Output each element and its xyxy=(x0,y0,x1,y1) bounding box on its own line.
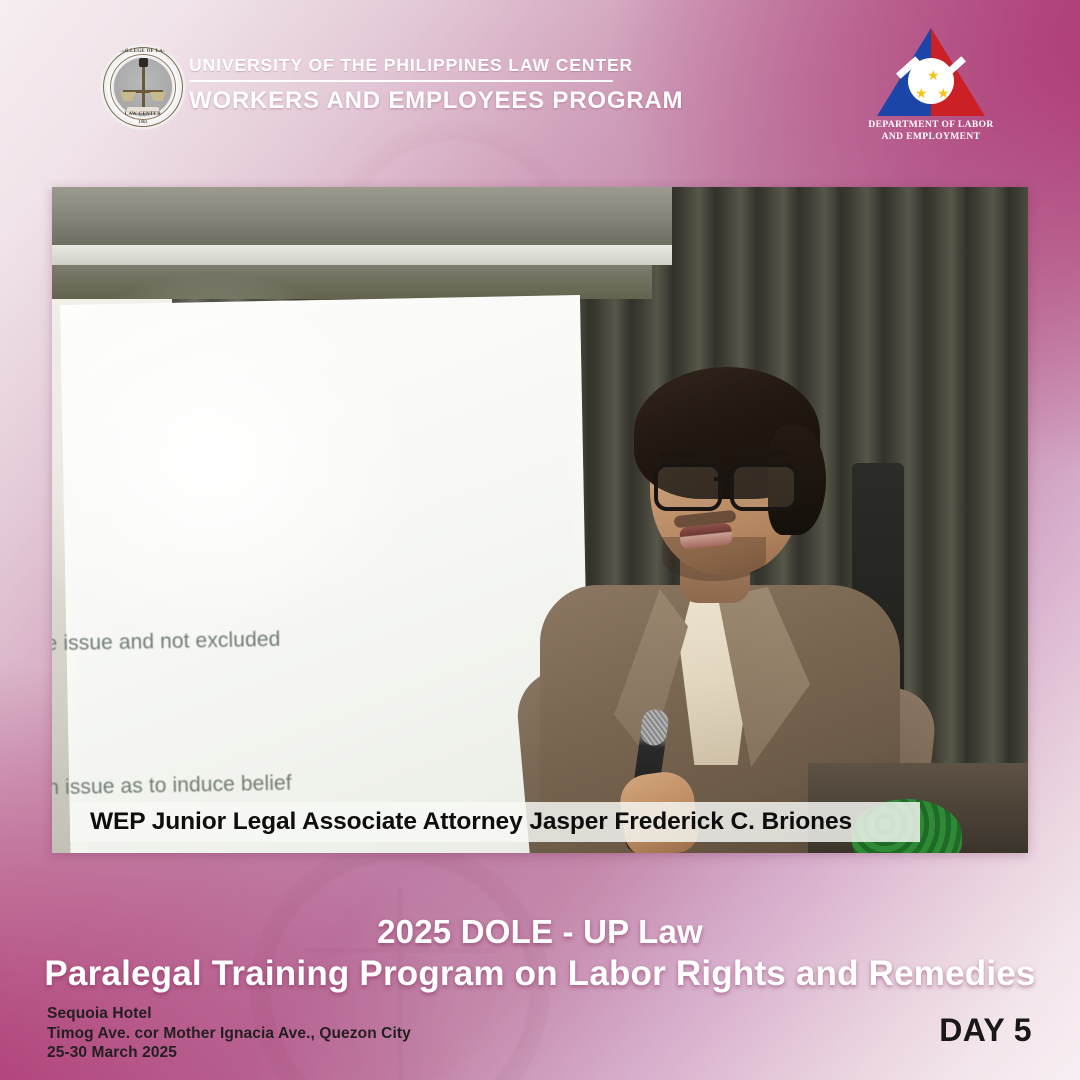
projector-screen: lence. evant to the issue and not exclud… xyxy=(60,295,593,853)
header-org-line2: WORKERS AND EMPLOYEES PROGRAM xyxy=(189,87,749,115)
poster-canvas: COLLEGE OF LAW LAW CENTER 1963 UNIVERSIT… xyxy=(0,0,1080,1080)
photo-ceiling-band-light xyxy=(52,245,672,265)
photo-caption-text: WEP Junior Legal Associate Attorney Jasp… xyxy=(70,808,852,836)
seal-sword-hilt xyxy=(139,58,148,67)
eyeglass-lens-left xyxy=(654,463,722,511)
seal-top-text: COLLEGE OF LAW xyxy=(101,49,185,54)
event-title-line1: 2025 DOLE - UP Law xyxy=(0,912,1080,952)
event-title-block: 2025 DOLE - UP Law Paralegal Training Pr… xyxy=(0,912,1080,996)
header-text-block: UNIVERSITY OF THE PHILIPPINES LAW CENTER… xyxy=(189,54,749,115)
photo-ceiling-band xyxy=(52,187,672,245)
dole-star-left: ★ xyxy=(915,86,928,100)
poster-header: COLLEGE OF LAW LAW CENTER 1963 UNIVERSIT… xyxy=(0,0,1080,160)
event-title-line2: Paralegal Training Program on Labor Righ… xyxy=(0,952,1080,996)
venue-block: Sequoia Hotel Timog Ave. cor Mother Igna… xyxy=(47,1004,411,1063)
venue-address: Timog Ave. cor Mother Ignacia Ave., Quez… xyxy=(47,1024,411,1044)
day-badge: DAY 5 xyxy=(939,1012,1032,1049)
dole-label-line2: AND EMPLOYMENT xyxy=(865,132,997,144)
header-org-line1: UNIVERSITY OF THE PHILIPPINES LAW CENTER xyxy=(189,54,749,76)
venue-name: Sequoia Hotel xyxy=(47,1004,411,1024)
eyeglass-bridge xyxy=(714,477,732,481)
dole-logo-icon: ★ ★ ★ DEPARTMENT OF LABOR AND EMPLOYMENT xyxy=(865,28,997,140)
up-law-center-seal-icon: COLLEGE OF LAW LAW CENTER 1963 xyxy=(101,45,185,129)
dole-triangle: ★ ★ ★ xyxy=(877,28,985,116)
event-photo: lence. evant to the issue and not exclud… xyxy=(52,187,1028,853)
dole-star-right: ★ xyxy=(937,86,950,100)
microphone-grille xyxy=(639,708,670,747)
eyeglass-lens-right xyxy=(730,463,798,511)
speaker-eyeglasses-icon xyxy=(654,463,812,505)
dole-label: DEPARTMENT OF LABOR AND EMPLOYMENT xyxy=(865,120,997,143)
dole-label-line1: DEPARTMENT OF LABOR xyxy=(865,120,997,132)
seal-mid-text: LAW CENTER xyxy=(101,112,185,117)
header-divider xyxy=(189,80,613,82)
dole-star-top: ★ xyxy=(927,68,940,82)
seal-year-text: 1963 xyxy=(101,119,185,124)
event-dates: 25-30 March 2025 xyxy=(47,1043,411,1063)
seal-sword-icon xyxy=(142,61,145,111)
photo-caption-bar: WEP Junior Legal Associate Attorney Jasp… xyxy=(70,802,920,842)
